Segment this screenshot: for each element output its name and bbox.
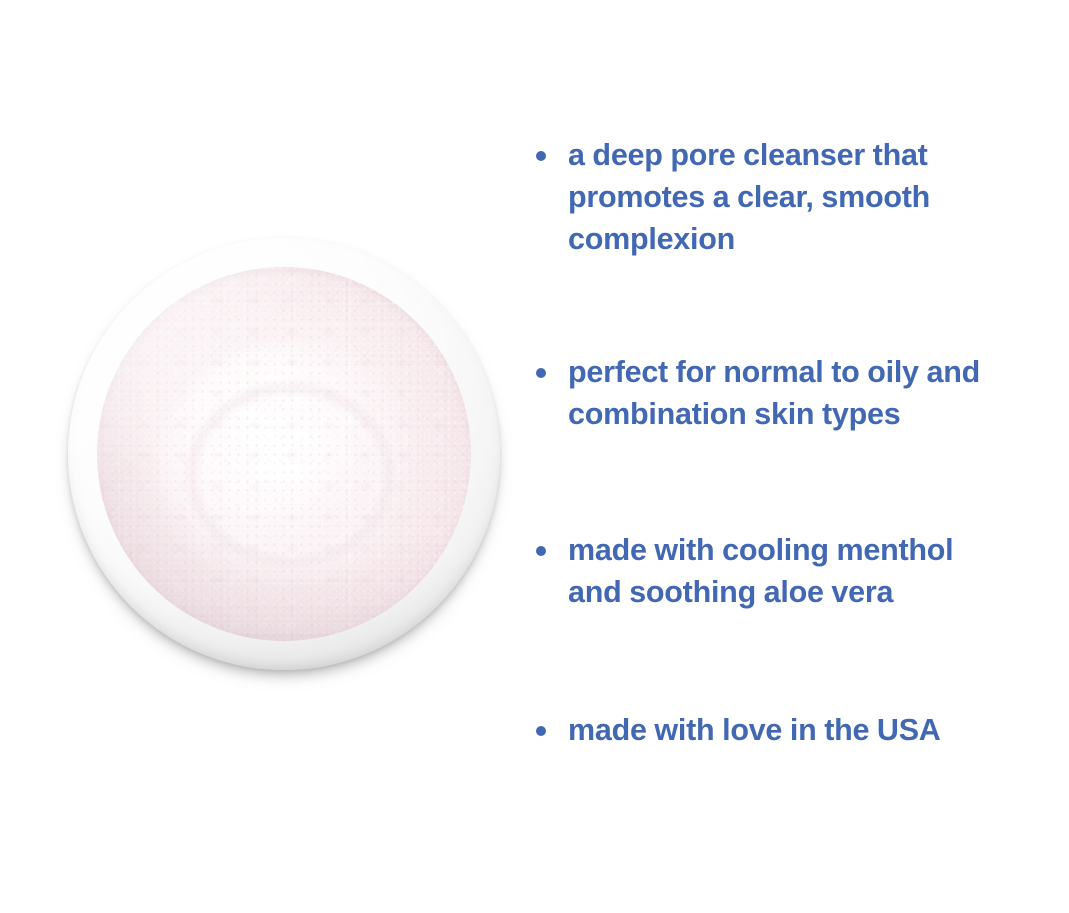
powder-surface	[97, 267, 471, 641]
feature-bullet-list: a deep pore cleanser that promotes a cle…	[524, 134, 1069, 751]
list-item: made with love in the USA	[524, 709, 1069, 751]
feature-text: a deep pore cleanser that promotes a cle…	[568, 134, 1069, 260]
bullet-point-icon	[536, 726, 546, 736]
feature-text: perfect for normal to oily and combinati…	[568, 351, 1069, 435]
product-image	[62, 232, 506, 676]
list-item: a deep pore cleanser that promotes a cle…	[524, 134, 1069, 260]
list-item: perfect for normal to oily and combinati…	[524, 351, 1069, 435]
feature-text: made with cooling menthol and soothing a…	[568, 529, 1069, 613]
powder-inner-shading	[97, 267, 471, 641]
bullet-point-icon	[536, 151, 546, 161]
bullet-point-icon	[536, 546, 546, 556]
list-item: made with cooling menthol and soothing a…	[524, 529, 1069, 613]
feature-text: made with love in the USA	[568, 709, 1069, 751]
bullet-point-icon	[536, 368, 546, 378]
